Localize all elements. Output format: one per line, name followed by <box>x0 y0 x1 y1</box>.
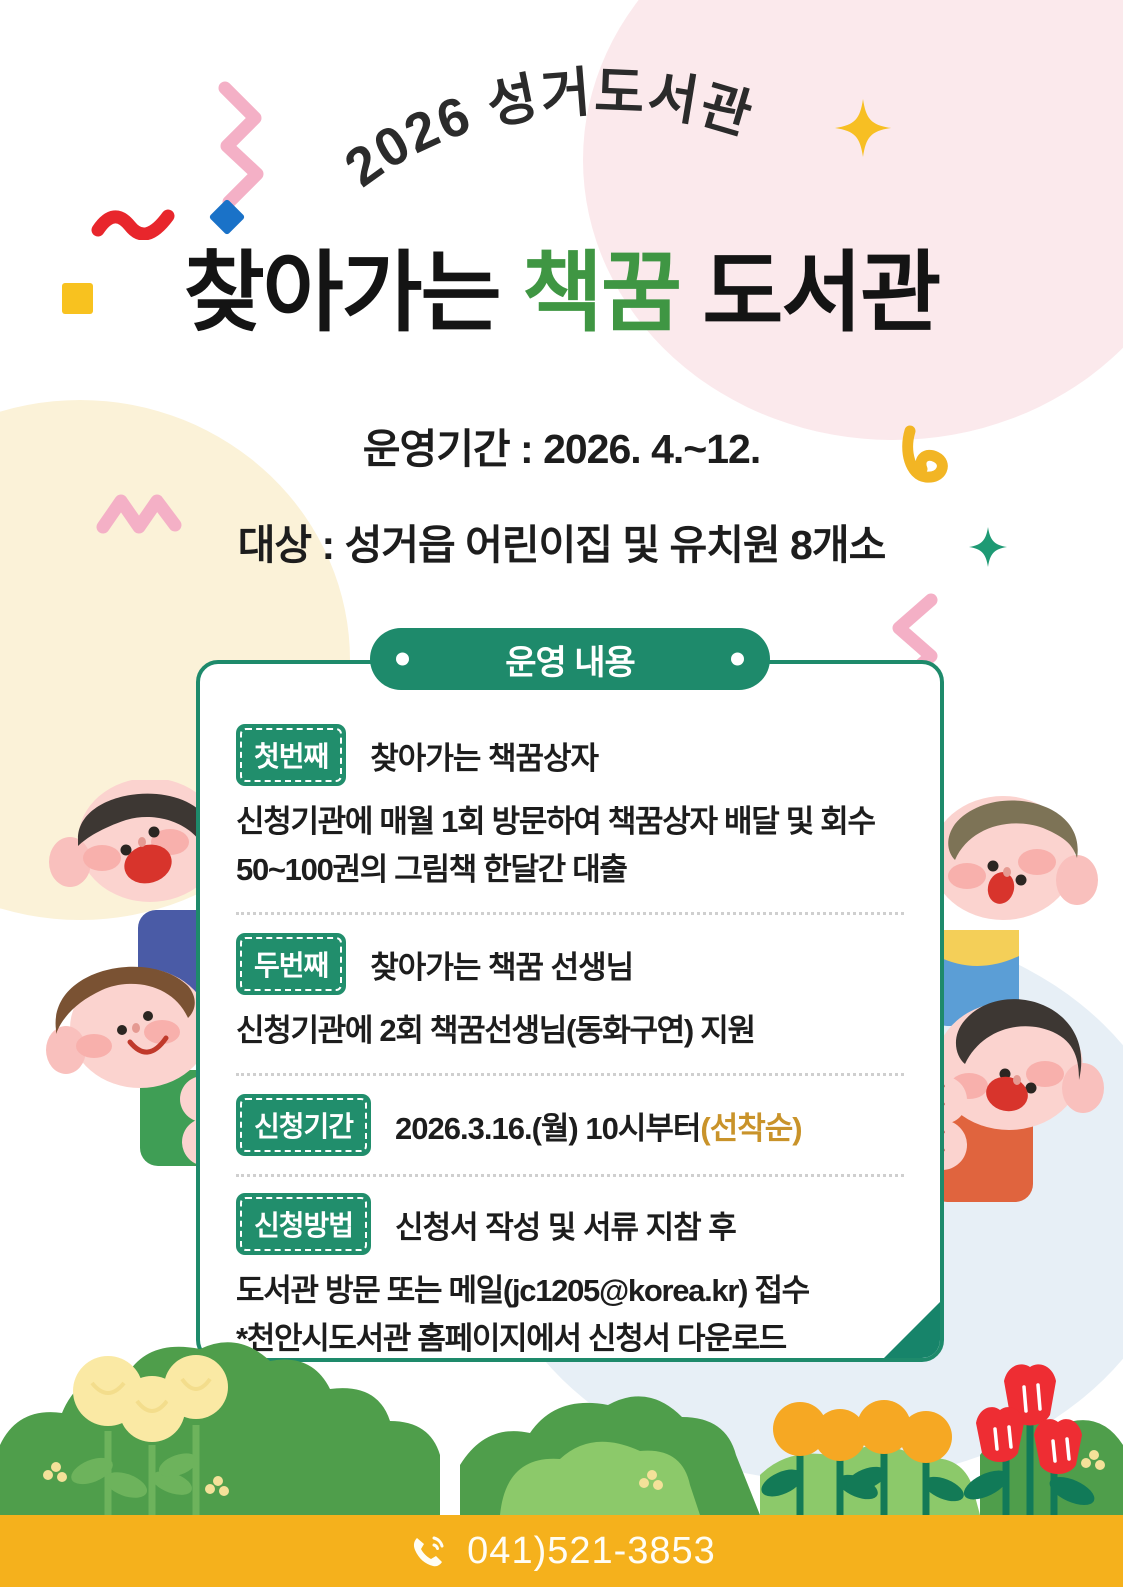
poster-root: 2026 성거도서관 찾아가는 책꿈 도서관 운영기간 : 2026. 4.~1… <box>0 0 1123 1587</box>
phone-icon <box>407 1530 449 1572</box>
arc-title: 2026 성거도서관 <box>0 60 1123 240</box>
page-title: 찾아가는 책꿈 도서관 <box>0 245 1123 342</box>
row-tag-application-period: 신청기간 <box>236 1094 371 1156</box>
row-head-text: 찾아가는 책꿈상자 <box>370 733 598 778</box>
content-card: 운영 내용 첫번째 찾아가는 책꿈상자 신청기관에 매월 1회 방문하여 책꿈상… <box>196 660 944 1362</box>
arc-title-text: 2026 성거도서관 <box>334 62 760 198</box>
flower-red-tulips <box>960 1364 1099 1515</box>
row-head: 신청기간 2026.3.16.(월) 10시부터(선착순) <box>236 1094 904 1156</box>
kid-olive-hair <box>929 796 1098 1026</box>
garden-illustration <box>0 1325 1123 1515</box>
row-separator <box>236 912 904 915</box>
row-separator <box>236 1174 904 1177</box>
row-head-text: 신청서 작성 및 서류 지참 후 <box>395 1202 736 1247</box>
row-separator <box>236 1073 904 1076</box>
row-body-line: 신청기관에 2회 책꿈선생님(동화구연) 지원 <box>236 1009 904 1053</box>
card-body: 첫번째 찾아가는 책꿈상자 신청기관에 매월 1회 방문하여 책꿈상자 배달 및… <box>200 664 940 1358</box>
row-body-line: 신청기관에 매월 1회 방문하여 책꿈상자 배달 및 회수 <box>236 800 904 844</box>
row-tag-application-method: 신청방법 <box>236 1193 371 1255</box>
page-title-accent: 책꿈 <box>522 243 680 342</box>
row-head: 첫번째 찾아가는 책꿈상자 <box>236 724 904 786</box>
row-head: 두번째 찾아가는 책꿈 선생님 <box>236 933 904 995</box>
row-head-text: 2026.3.16.(월) 10시부터(선착순) <box>395 1103 802 1148</box>
row-body-line: 도서관 방문 또는 메일(jc1205@korea.kr) 접수 <box>236 1269 904 1313</box>
subtitle-period: 운영기간 : 2026. 4.~12. <box>0 415 1123 475</box>
subtitle-block: 운영기간 : 2026. 4.~12. 대상 : 성거읍 어린이집 및 유치원 … <box>0 415 1123 607</box>
footer-contact-bar: 041)521-3853 <box>0 1515 1123 1587</box>
row-tag-second: 두번째 <box>236 933 346 995</box>
page-title-part2: 도서관 <box>680 243 939 342</box>
application-date: 2026.3.16.(월) 10시부터 <box>395 1111 700 1146</box>
subtitle-target: 대상 : 성거읍 어린이집 및 유치원 8개소 <box>0 511 1123 571</box>
page-title-part1: 찾아가는 <box>184 243 522 342</box>
row-body-line: 50~100권의 그림책 한달간 대출 <box>236 848 904 892</box>
first-come-badge: (선착순) <box>700 1111 801 1146</box>
row-head-text: 찾아가는 책꿈 선생님 <box>370 942 633 987</box>
row-tag-first: 첫번째 <box>236 724 346 786</box>
row-head: 신청방법 신청서 작성 및 서류 지참 후 <box>236 1193 904 1255</box>
footer-phone-number: 041)521-3853 <box>467 1530 716 1573</box>
